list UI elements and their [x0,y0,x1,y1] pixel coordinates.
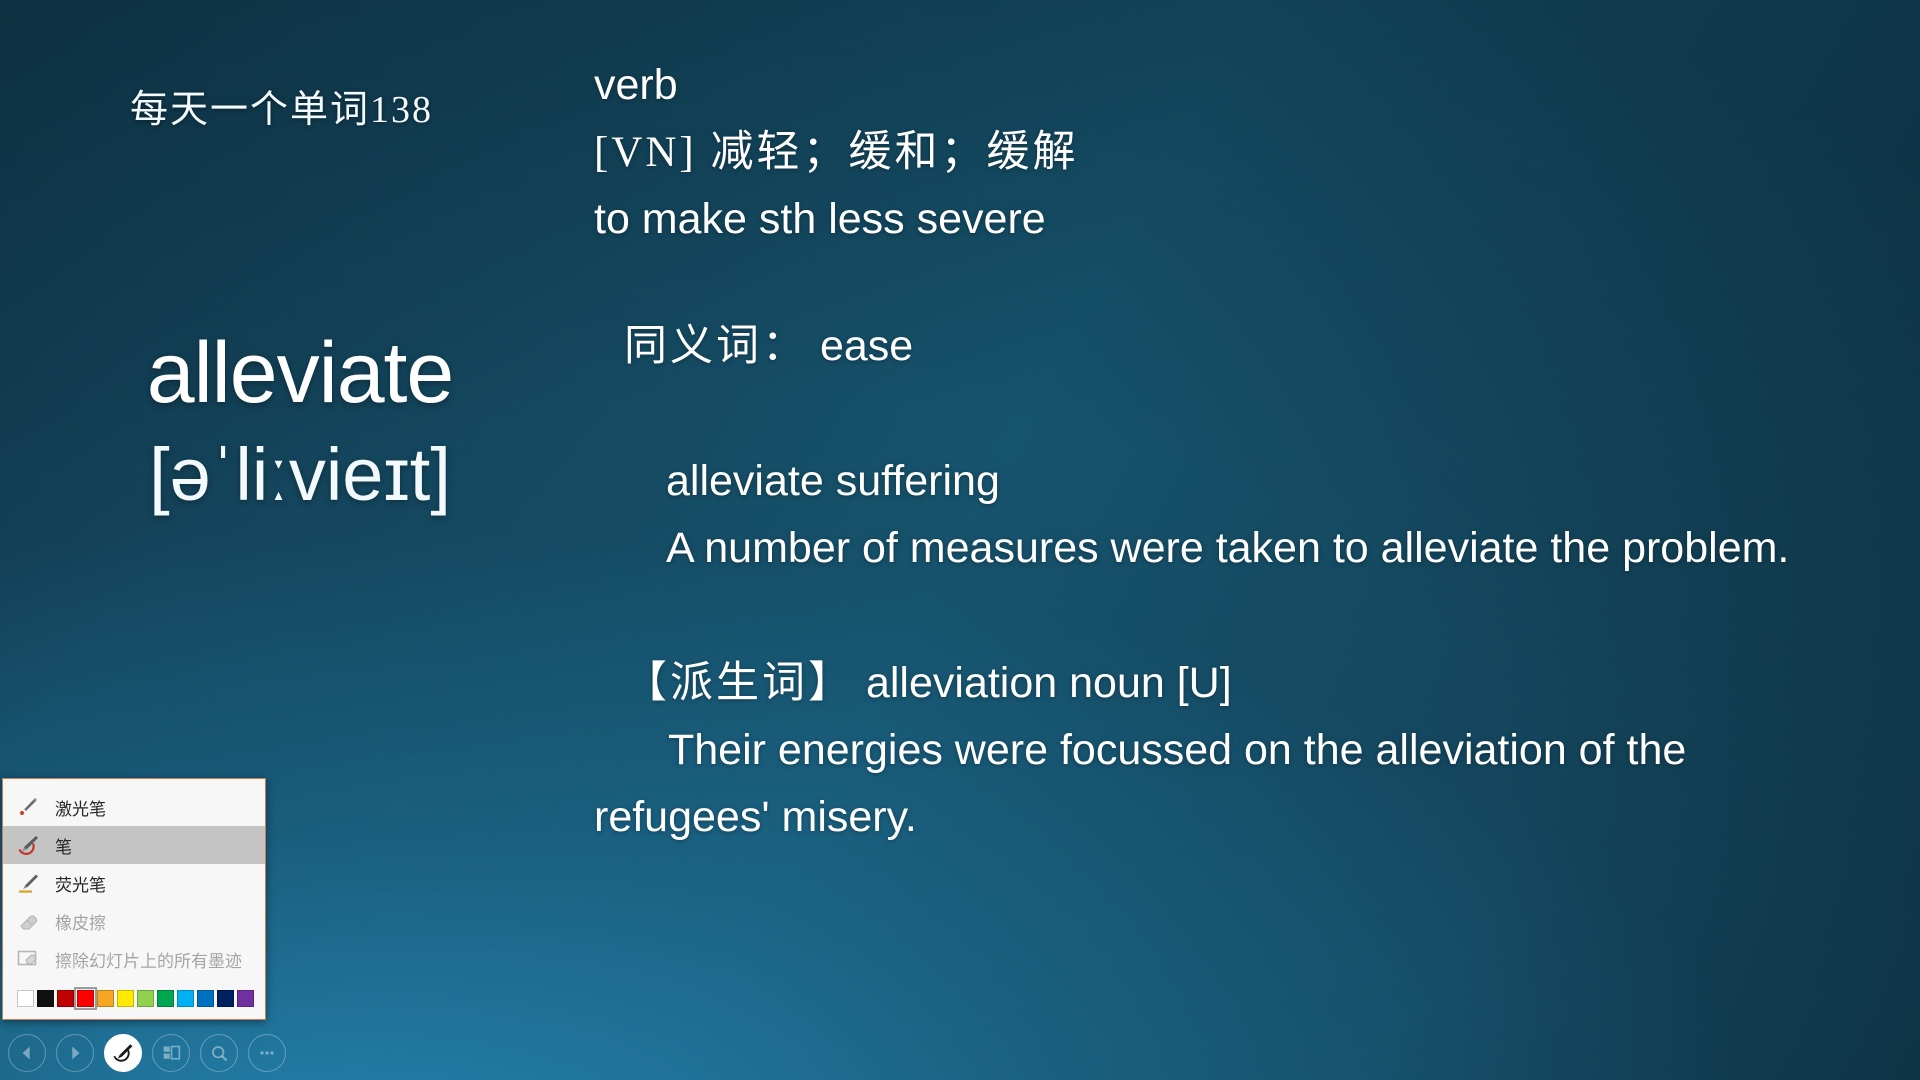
ink-color-black[interactable] [37,990,54,1007]
ink-menu-item-label: 激光笔 [55,795,106,820]
ink-menu-item-label: 笔 [55,833,72,858]
synonym-label: 同义词： [624,323,808,370]
ink-menu-item-label: 橡皮擦 [55,909,106,934]
ink-color-blue[interactable] [197,990,214,1007]
spacer [594,380,1794,448]
more-options-button[interactable] [248,1034,286,1072]
swatch-fill [177,990,194,1007]
swatch-fill [57,990,74,1007]
page-title: 每天一个单词138 [130,78,433,133]
all-slides-button[interactable] [152,1034,190,1072]
synonym-row: 同义词： ease [594,313,1794,380]
swatch-fill [77,990,94,1007]
ink-menu-item-pen[interactable]: 笔 [3,826,265,864]
ink-menu-item-laser-pointer[interactable]: 激光笔 [3,788,265,826]
ink-menu-item-eraser[interactable]: 橡皮擦 [3,902,265,940]
example-3-text: Their energies were focussed on the alle… [594,726,1686,841]
triangle-left-icon [17,1043,37,1063]
ink-menu-item-label: 擦除幻灯片上的所有墨迹 [55,947,242,972]
swatch-fill [17,990,34,1007]
triangle-right-icon [65,1043,85,1063]
ink-color-orange[interactable] [97,990,114,1007]
swatch-fill [37,990,54,1007]
ink-color-white[interactable] [17,990,34,1007]
english-definition: to make sth less severe [594,186,1794,253]
headword: alleviate [0,330,600,416]
ink-context-menu[interactable]: 激光笔 笔 荧光笔 [2,778,266,1020]
ink-color-dark-blue[interactable] [217,990,234,1007]
swatch-fill [217,990,234,1007]
swatch-fill [137,990,154,1007]
swatch-fill [117,990,134,1007]
chinese-definition: [VN] 减轻；缓和；缓解 [594,119,1794,186]
ink-color-green[interactable] [157,990,174,1007]
dictionary-entry: verb [VN] 减轻；缓和；缓解 to make sth less seve… [594,52,1794,851]
eraser-icon [15,908,41,934]
example-2: A number of measures were taken to allev… [594,515,1794,582]
erase-all-ink-icon [15,946,41,972]
derivative-row: 【派生词】 alleviation noun [U] [594,650,1794,717]
example-1: alleviate suffering [594,448,1794,515]
pen-icon [15,832,41,858]
laser-pointer-icon [15,794,41,820]
slide-grid-icon [161,1043,182,1064]
ink-color-purple[interactable] [237,990,254,1007]
phonetic-transcription: [əˈliːvieɪt] [0,438,600,512]
next-slide-button[interactable] [56,1034,94,1072]
ink-menu-item-label: 荧光笔 [55,871,106,896]
ink-menu-item-highlighter[interactable]: 荧光笔 [3,864,265,902]
spacer [594,582,1794,650]
ellipsis-icon [257,1043,277,1063]
presentation-slide[interactable]: 每天一个单词138 // placeholder removed at runt… [0,0,1920,1080]
ink-color-light-blue[interactable] [177,990,194,1007]
ink-menu-item-erase-all-ink[interactable]: 擦除幻灯片上的所有墨迹 [3,940,265,978]
magnifier-icon [209,1043,230,1064]
part-of-speech: verb [594,52,1794,119]
example-2-text: A number of measures were taken to allev… [666,524,1789,572]
swatch-fill [197,990,214,1007]
pen-tools-button[interactable] [104,1034,142,1072]
synonym-value: ease [820,322,913,370]
headword-block: alleviate [əˈliːvieɪt] [0,330,600,512]
ink-color-dark-red[interactable] [57,990,74,1007]
derivative-label: 【派生词】 [624,660,854,707]
derivative-value: alleviation noun [U] [866,659,1232,707]
ink-color-light-green[interactable] [137,990,154,1007]
spacer [594,253,1794,313]
ink-color-palette[interactable] [3,978,265,1011]
previous-slide-button[interactable] [8,1034,46,1072]
swatch-fill [237,990,254,1007]
swatch-fill [157,990,174,1007]
zoom-slide-button[interactable] [200,1034,238,1072]
pen-icon [111,1041,135,1065]
example-3: Their energies were focussed on the alle… [594,717,1794,851]
ink-color-red[interactable] [77,990,94,1007]
ink-color-yellow[interactable] [117,990,134,1007]
swatch-fill [97,990,114,1007]
highlighter-icon [15,870,41,896]
presenter-toolbar[interactable] [8,1034,286,1072]
